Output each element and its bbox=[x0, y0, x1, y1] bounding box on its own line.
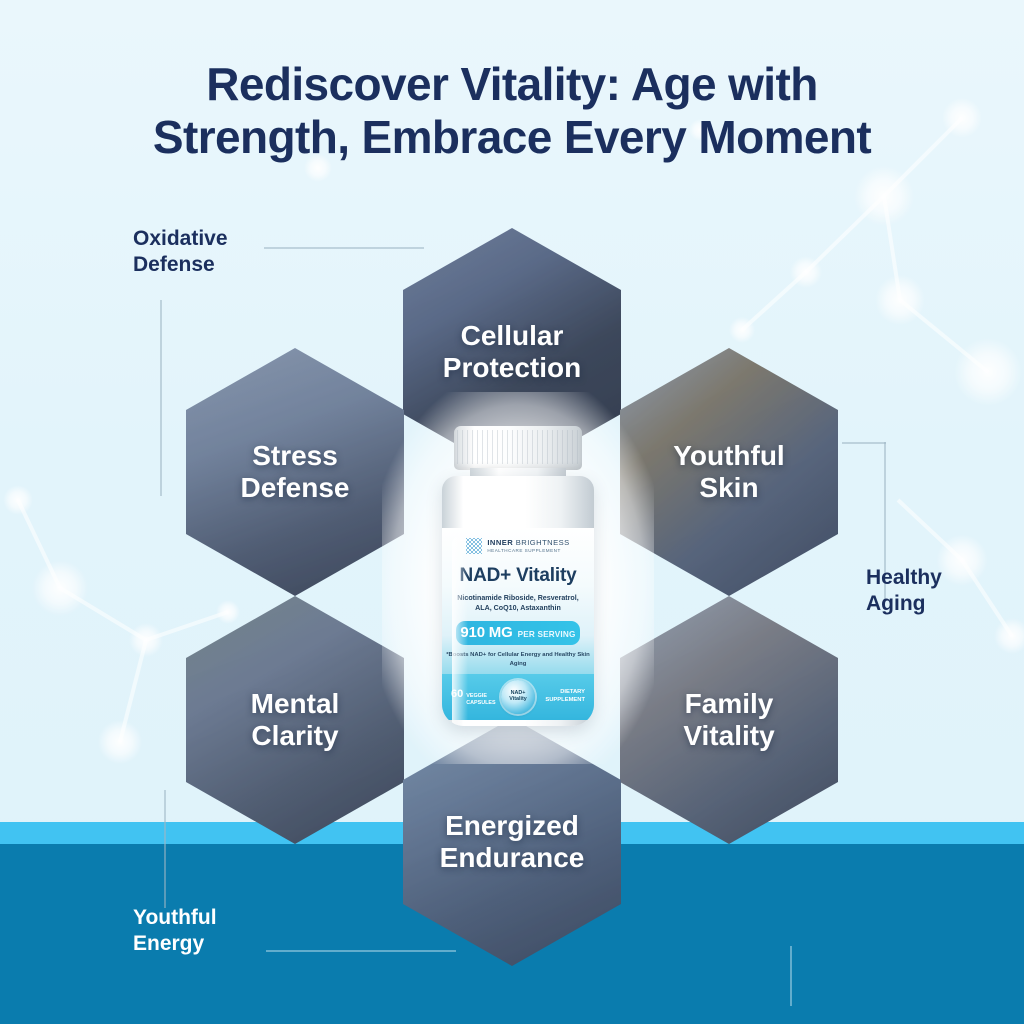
bottle-body: INNER BRIGHTNESS HEALTHCARE SUPPLEMENT N… bbox=[442, 476, 594, 726]
brand-name: INNER BRIGHTNESS bbox=[487, 539, 569, 547]
headline-line-1: Rediscover Vitality: Age with bbox=[206, 58, 817, 110]
dietary-supplement-text: DIETARY SUPPLEMENT bbox=[545, 689, 585, 704]
dosage-amount: 910 MG bbox=[460, 624, 512, 641]
benefit-label: Stress Defense bbox=[233, 440, 358, 505]
callout-label: Youthful Energy bbox=[133, 905, 217, 956]
callout-healthy-aging: Healthy Aging bbox=[866, 565, 942, 616]
leader-line-youthful-vertical bbox=[164, 790, 166, 908]
brand-text: INNER BRIGHTNESS HEALTHCARE SUPPLEMENT bbox=[487, 539, 569, 553]
benefit-label: Family Vitality bbox=[675, 688, 782, 753]
bottle-cap bbox=[454, 426, 582, 470]
headline-line-2: Strength, Embrace Every Moment bbox=[42, 111, 982, 164]
benefit-label: Mental Clarity bbox=[243, 688, 348, 753]
brand-name-primary: INNER bbox=[487, 538, 515, 547]
brand-name-secondary: BRIGHTNESS bbox=[516, 538, 570, 547]
benefit-label: Youthful Skin bbox=[665, 440, 792, 505]
leader-line-oxidative-horizontal bbox=[264, 247, 424, 249]
product-bottle[interactable]: INNER BRIGHTNESS HEALTHCARE SUPPLEMENT N… bbox=[418, 420, 618, 732]
benefit-label: Cellular Protection bbox=[435, 320, 589, 385]
brand-dots-icon bbox=[466, 538, 482, 554]
cap-ridges bbox=[457, 430, 579, 464]
callout-label: Healthy Aging bbox=[866, 565, 942, 616]
leader-line-youthful-horizontal bbox=[266, 950, 456, 952]
callout-youthful-energy: Youthful Energy bbox=[133, 905, 217, 956]
dosage-per-serving: PER SERVING bbox=[518, 630, 576, 639]
brand-tagline: HEALTHCARE SUPPLEMENT bbox=[487, 549, 569, 554]
nad-seal-icon: NAD+ Vitality bbox=[501, 680, 535, 714]
bottle-highlight bbox=[452, 536, 468, 726]
leader-line-oxidative-vertical bbox=[160, 300, 162, 496]
benefit-label: Energized Endurance bbox=[432, 810, 593, 875]
infographic-canvas: Rediscover Vitality: Age with Strength, … bbox=[0, 0, 1024, 1024]
leader-line-healthy-horizontal bbox=[842, 442, 886, 444]
callout-label: Oxidative Defense bbox=[133, 226, 228, 277]
capsule-count-unit: VEGGIE CAPSULES bbox=[466, 693, 495, 707]
dosage-badge: 910 MG PER SERVING bbox=[456, 621, 580, 645]
leader-line-bottom-right bbox=[790, 946, 792, 1006]
page-title: Rediscover Vitality: Age with Strength, … bbox=[0, 58, 1024, 165]
callout-oxidative-defense: Oxidative Defense bbox=[133, 226, 228, 277]
seal-label: NAD+ Vitality bbox=[509, 691, 527, 702]
